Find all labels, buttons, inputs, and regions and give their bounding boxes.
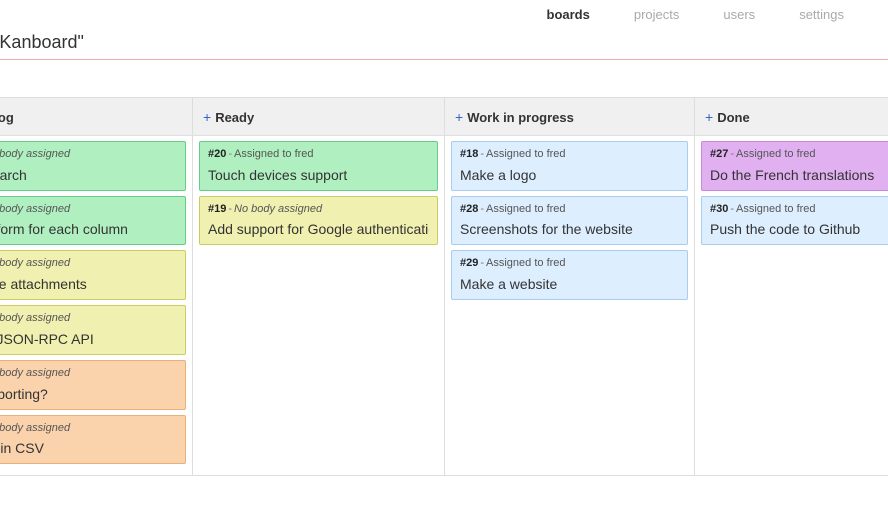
task-id[interactable]: #29 bbox=[460, 257, 478, 269]
task-assignee: No body assigned bbox=[0, 422, 70, 434]
column-done[interactable]: #27-Assigned to fredDo the French transl… bbox=[695, 136, 888, 476]
task-meta: #27-Assigned to fred bbox=[710, 148, 888, 161]
task-assignee: Assigned to fred bbox=[736, 203, 816, 215]
task-meta-separator: - bbox=[478, 257, 486, 269]
header-divider bbox=[0, 59, 888, 60]
plus-icon[interactable]: + bbox=[455, 109, 463, 125]
page-title: Board "Kanboard" bbox=[0, 32, 84, 53]
main-nav: boards projects users settings bbox=[525, 7, 866, 22]
top-navigation-bar: boards projects users settings bbox=[0, 0, 888, 28]
column-backlog[interactable]: #24-No body assignedAdd search#23-No bod… bbox=[0, 136, 193, 476]
task-title[interactable]: Make a website bbox=[460, 276, 679, 292]
nav-item-settings[interactable]: settings bbox=[777, 7, 866, 22]
task-meta: #26-No body assigned bbox=[0, 367, 177, 380]
task-card[interactable]: #21-No body assignedAdd a JSON-RPC API bbox=[0, 305, 186, 355]
task-meta: #30-Assigned to fred bbox=[710, 203, 888, 216]
column-header-ready: +Ready bbox=[193, 98, 445, 136]
column-work-in-progress[interactable]: #18-Assigned to fredMake a logo#28-Assig… bbox=[445, 136, 695, 476]
task-card[interactable]: #20-Assigned to fredTouch devices suppor… bbox=[199, 141, 438, 191]
task-title[interactable]: Export in CSV bbox=[0, 440, 177, 456]
kanban-board: +Backlog +Ready +Work in progress +Done … bbox=[0, 97, 888, 476]
nav-item-projects[interactable]: projects bbox=[612, 7, 702, 22]
task-meta-separator: - bbox=[478, 148, 486, 160]
task-meta: #20-Assigned to fred bbox=[208, 148, 429, 161]
task-assignee: Assigned to fred bbox=[486, 148, 566, 160]
task-assignee: No body assigned bbox=[234, 203, 322, 215]
nav-item-users[interactable]: users bbox=[701, 7, 777, 22]
task-meta-separator: - bbox=[728, 148, 736, 160]
task-id[interactable]: #19 bbox=[208, 203, 226, 215]
task-meta-separator: - bbox=[226, 148, 234, 160]
plus-icon[interactable]: + bbox=[705, 109, 713, 125]
task-title[interactable]: Touch devices support bbox=[208, 167, 429, 183]
task-meta: #24-No body assigned bbox=[0, 148, 177, 161]
task-card[interactable]: #23-No body assignedAdd a form for each … bbox=[0, 196, 186, 246]
task-title[interactable]: Add support for Google authentication bbox=[208, 221, 429, 237]
task-assignee: Assigned to fred bbox=[736, 148, 816, 160]
task-card[interactable]: #26-No body assignedAdd reporting? bbox=[0, 360, 186, 410]
column-header-backlog: +Backlog bbox=[0, 98, 193, 136]
task-assignee: No body assigned bbox=[0, 203, 70, 215]
task-card[interactable]: #18-Assigned to fredMake a logo bbox=[451, 141, 688, 191]
column-header-done: +Done bbox=[695, 98, 888, 136]
task-title[interactable]: Push the code to Github bbox=[710, 221, 888, 237]
board-scroll-region[interactable]: +Backlog +Ready +Work in progress +Done … bbox=[0, 97, 888, 522]
task-title[interactable]: Manage attachments bbox=[0, 276, 177, 292]
task-card[interactable]: #24-No body assignedAdd search bbox=[0, 141, 186, 191]
column-header-work-in-progress: +Work in progress bbox=[445, 98, 695, 136]
column-title-ready: Ready bbox=[215, 110, 254, 125]
task-card[interactable]: #22-No body assignedManage attachments bbox=[0, 250, 186, 300]
task-assignee: Assigned to fred bbox=[234, 148, 314, 160]
task-card[interactable]: #25-No body assignedExport in CSV bbox=[0, 415, 186, 465]
task-meta: #28-Assigned to fred bbox=[460, 203, 679, 216]
task-card[interactable]: #29-Assigned to fredMake a website bbox=[451, 250, 688, 300]
plus-icon[interactable]: + bbox=[203, 109, 211, 125]
task-meta: #29-Assigned to fred bbox=[460, 257, 679, 270]
board-header-row: +Backlog +Ready +Work in progress +Done bbox=[0, 98, 888, 136]
task-meta-separator: - bbox=[728, 203, 736, 215]
column-ready[interactable]: #20-Assigned to fredTouch devices suppor… bbox=[193, 136, 445, 476]
task-meta-separator: - bbox=[478, 203, 486, 215]
column-title-work-in-progress: Work in progress bbox=[467, 110, 574, 125]
task-meta: #21-No body assigned bbox=[0, 312, 177, 325]
task-assignee: No body assigned bbox=[0, 312, 70, 324]
board-body-row: #24-No body assignedAdd search#23-No bod… bbox=[0, 136, 888, 476]
task-assignee: Assigned to fred bbox=[486, 257, 566, 269]
task-card[interactable]: #27-Assigned to fredDo the French transl… bbox=[701, 141, 888, 191]
task-title[interactable]: Do the French translations bbox=[710, 167, 888, 183]
task-id[interactable]: #18 bbox=[460, 148, 478, 160]
nav-item-boards[interactable]: boards bbox=[525, 7, 612, 22]
task-title[interactable]: Add a form for each column bbox=[0, 221, 177, 237]
task-id[interactable]: #27 bbox=[710, 148, 728, 160]
task-id[interactable]: #20 bbox=[208, 148, 226, 160]
task-assignee: No body assigned bbox=[0, 257, 70, 269]
task-assignee: No body assigned bbox=[0, 367, 70, 379]
task-assignee: No body assigned bbox=[0, 148, 70, 160]
column-title-done: Done bbox=[717, 110, 750, 125]
task-title[interactable]: Screenshots for the website bbox=[460, 221, 679, 237]
task-card[interactable]: #28-Assigned to fredScreenshots for the … bbox=[451, 196, 688, 246]
task-title[interactable]: Make a logo bbox=[460, 167, 679, 183]
task-title[interactable]: Add a JSON-RPC API bbox=[0, 331, 177, 347]
task-meta: #18-Assigned to fred bbox=[460, 148, 679, 161]
task-meta: #19-No body assigned bbox=[208, 203, 429, 216]
column-title-backlog: Backlog bbox=[0, 110, 14, 125]
task-meta: #25-No body assigned bbox=[0, 422, 177, 435]
task-meta: #23-No body assigned bbox=[0, 203, 177, 216]
task-id[interactable]: #30 bbox=[710, 203, 728, 215]
task-meta-separator: - bbox=[226, 203, 234, 215]
task-card[interactable]: #19-No body assignedAdd support for Goog… bbox=[199, 196, 438, 246]
task-card[interactable]: #30-Assigned to fredPush the code to Git… bbox=[701, 196, 888, 246]
task-meta: #22-No body assigned bbox=[0, 257, 177, 270]
task-id[interactable]: #28 bbox=[460, 203, 478, 215]
task-title[interactable]: Add search bbox=[0, 167, 177, 183]
task-title[interactable]: Add reporting? bbox=[0, 386, 177, 402]
task-assignee: Assigned to fred bbox=[486, 203, 566, 215]
page-header: Board "Kanboard" bbox=[0, 28, 888, 62]
